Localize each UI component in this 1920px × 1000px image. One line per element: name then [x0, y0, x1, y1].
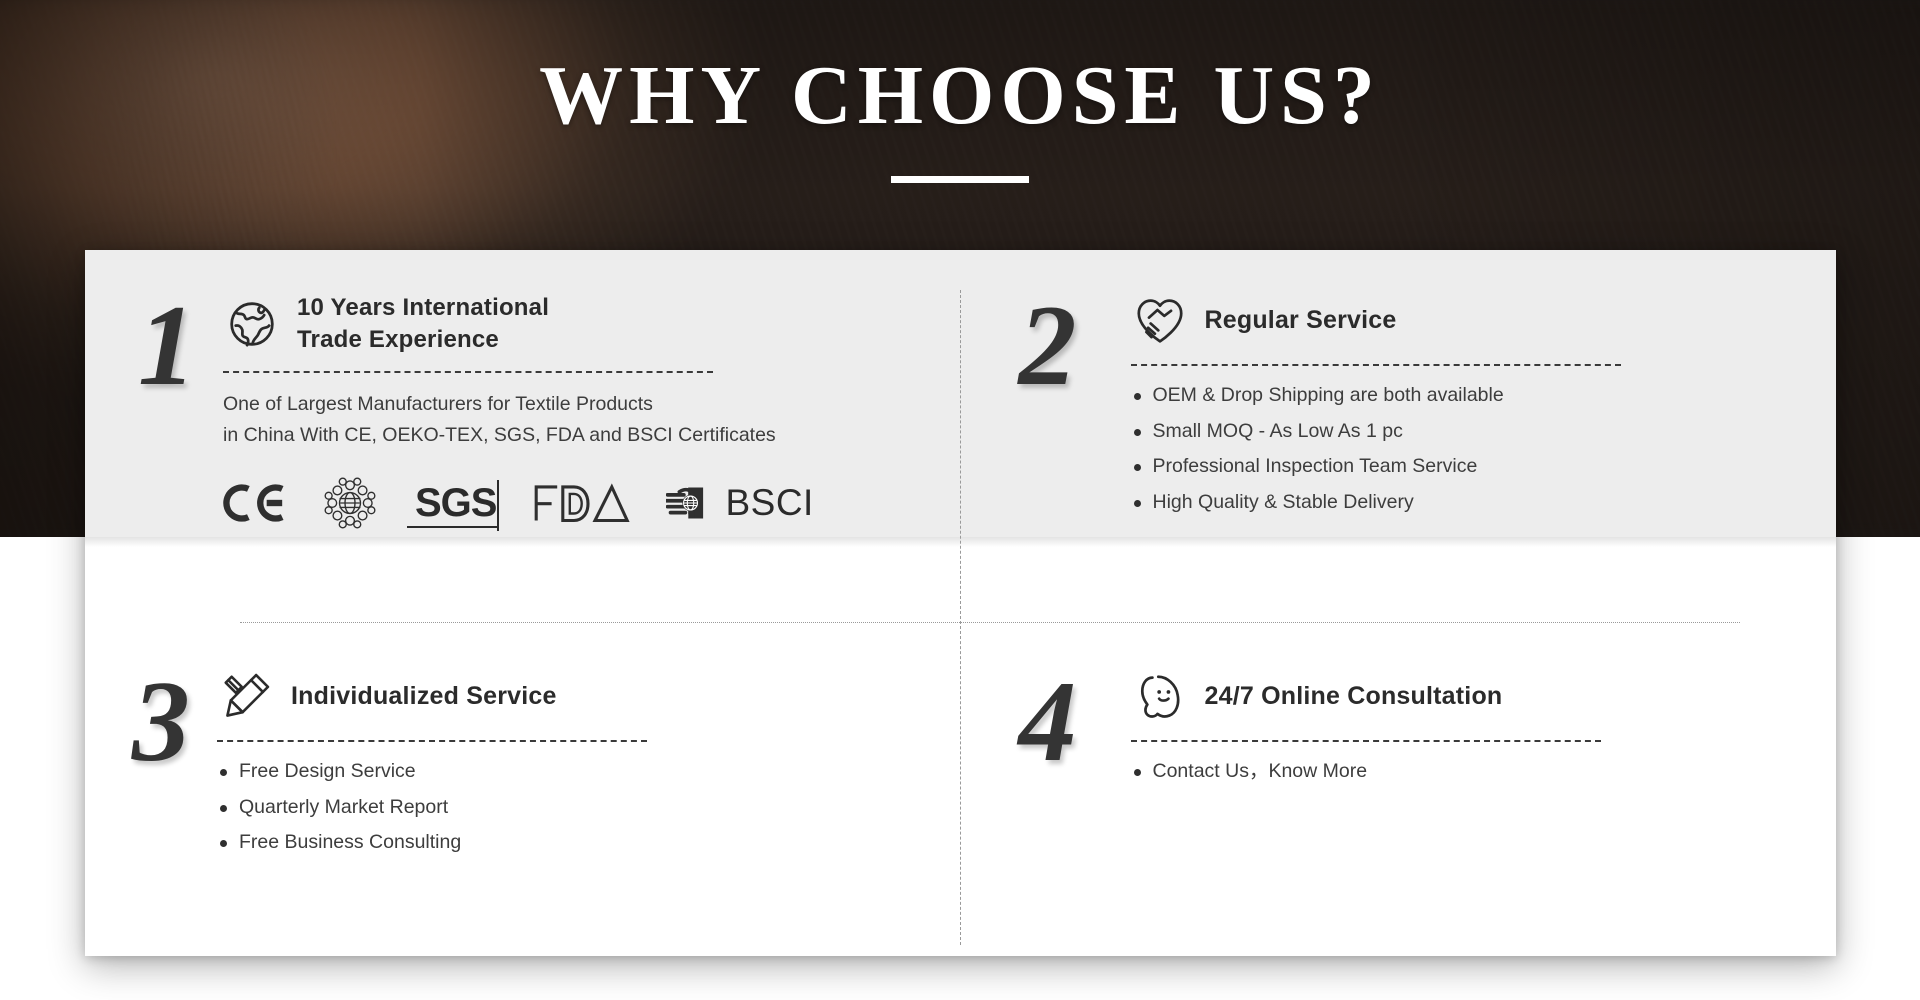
- list-item: Quarterly Market Report: [217, 792, 931, 824]
- panel-2-heading-row: Regular Service: [1131, 292, 1807, 350]
- features-card: 1 10 Years I: [85, 250, 1836, 956]
- phone-smile-icon: [1131, 668, 1189, 726]
- panel-number-1: 1: [111, 288, 223, 532]
- panel-3-rule: [217, 740, 647, 742]
- list-item: High Quality & Stable Delivery: [1131, 487, 1807, 519]
- pencil-ruler-icon: [217, 668, 275, 726]
- panel-3-heading: Individualized Service: [291, 680, 557, 714]
- handshake-heart-icon: [1131, 292, 1189, 350]
- panel-1-heading-row: 10 Years International Trade Experience: [223, 292, 931, 357]
- list-item: OEM & Drop Shipping are both available: [1131, 380, 1807, 412]
- features-grid: 1 10 Years I: [85, 250, 1836, 956]
- title-underline-rule: [891, 176, 1029, 183]
- panel-4-heading-row: 24/7 Online Consultation: [1131, 668, 1807, 726]
- ce-mark-logo: [223, 481, 285, 525]
- list-item: Free Business Consulting: [217, 827, 931, 859]
- panel-3-bullet-list: Free Design Service Quarterly Market Rep…: [217, 756, 931, 859]
- oeko-tex-logo: [321, 474, 379, 532]
- feature-panel-1: 1 10 Years I: [85, 250, 961, 622]
- panel-1-description: One of Largest Manufacturers for Textile…: [223, 389, 931, 452]
- panel-1-heading: 10 Years International Trade Experience: [297, 292, 549, 357]
- panel-number-4: 4: [1019, 664, 1131, 792]
- panel-4-bullet-list: Contact Us，Know More: [1131, 756, 1807, 788]
- feature-panel-2: 2 Regular Service: [961, 250, 1837, 622]
- page-title: WHY CHOOSE US?: [0, 52, 1920, 140]
- header: WHY CHOOSE US?: [0, 52, 1920, 183]
- list-item: Small MOQ - As Low As 1 pc: [1131, 416, 1807, 448]
- bsci-logo: BSCI: [666, 483, 813, 523]
- panel-4-rule: [1131, 740, 1601, 742]
- panel-1-description-line2: in China With CE, OEKO-TEX, SGS, FDA and…: [223, 420, 931, 452]
- globe-icon: [223, 295, 281, 353]
- panel-3-heading-row: Individualized Service: [217, 668, 931, 726]
- fda-logo: [532, 481, 630, 525]
- list-item: Free Design Service: [217, 756, 931, 788]
- panel-2-heading: Regular Service: [1205, 304, 1397, 338]
- panel-2-rule: [1131, 364, 1621, 366]
- panel-1-heading-line2: Trade Experience: [297, 324, 549, 356]
- panel-2-bullet-list: OEM & Drop Shipping are both available S…: [1131, 380, 1807, 518]
- list-item: Contact Us，Know More: [1131, 756, 1807, 788]
- feature-panel-4: 4 24/7 Online Consultation: [961, 622, 1837, 956]
- panel-number-2: 2: [1019, 288, 1131, 522]
- certification-logos: SGS: [223, 474, 931, 532]
- panel-1-heading-line1: 10 Years International: [297, 292, 549, 324]
- panel-1-rule: [223, 371, 713, 373]
- panel-4-heading: 24/7 Online Consultation: [1205, 680, 1503, 714]
- list-item: Professional Inspection Team Service: [1131, 451, 1807, 483]
- sgs-logo: SGS: [415, 483, 496, 523]
- panel-1-description-line1: One of Largest Manufacturers for Textile…: [223, 389, 931, 421]
- panel-number-3: 3: [105, 664, 217, 863]
- feature-panel-3: 3: [85, 622, 961, 956]
